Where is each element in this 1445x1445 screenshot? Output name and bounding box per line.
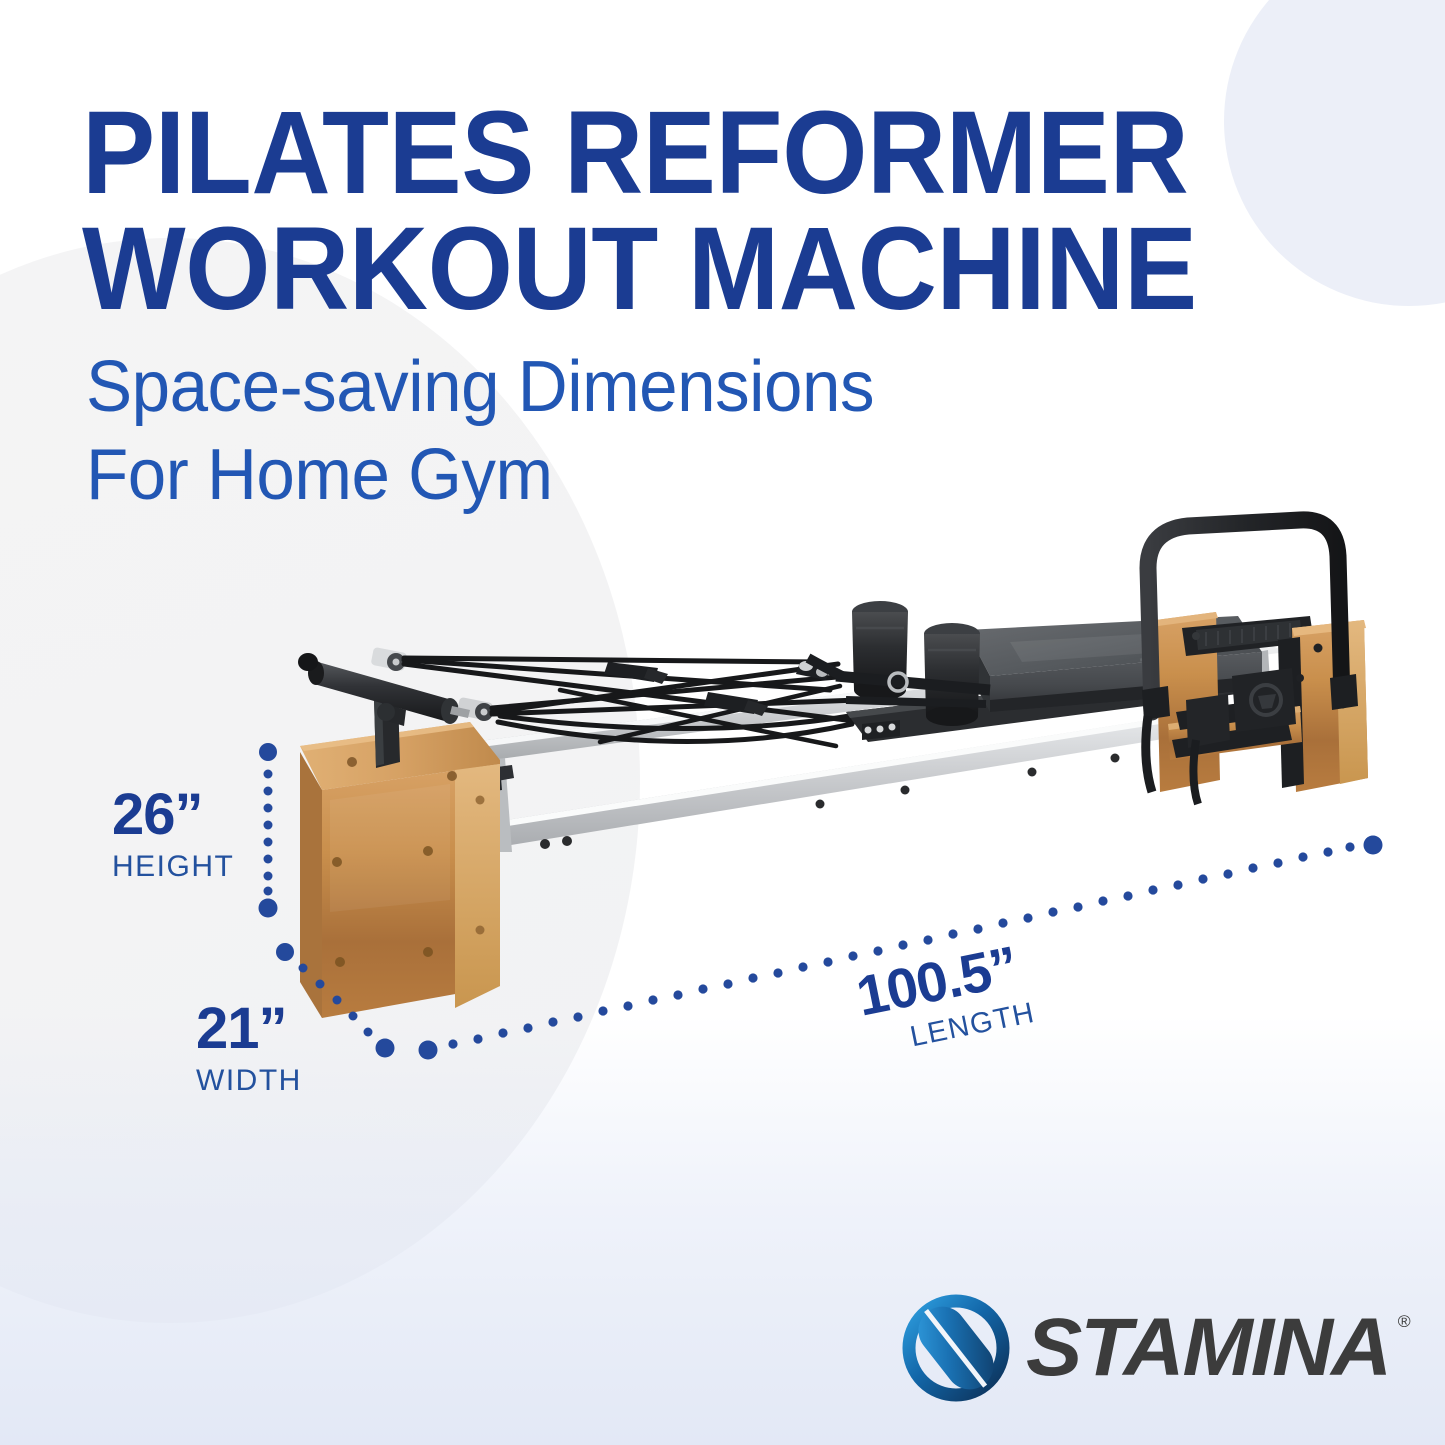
stamina-circle-slash-mark bbox=[900, 1292, 1012, 1404]
page-title: PILATES REFORMER WORKOUT MACHINE bbox=[82, 96, 1226, 327]
shoulder-rest-front bbox=[924, 623, 980, 726]
dimension-label-width: WIDTH bbox=[196, 1066, 302, 1096]
registered-trademark-icon: ® bbox=[1398, 1313, 1411, 1330]
dimension-value-width: 21” bbox=[196, 1000, 302, 1058]
dimension-callout-width: 21” WIDTH bbox=[196, 1000, 302, 1096]
brand-logo: STAMINA® bbox=[900, 1288, 1390, 1408]
dimension-value-height: 26” bbox=[112, 786, 234, 844]
wooden-foot-platform bbox=[300, 722, 500, 1018]
brand-wordmark: STAMINA® bbox=[1026, 1307, 1390, 1389]
page-subtitle: Space-saving Dimensions For Home Gym bbox=[86, 344, 1142, 520]
dimension-label-height: HEIGHT bbox=[112, 852, 234, 882]
infographic-canvas: PILATES REFORMER WORKOUT MACHINE Space-s… bbox=[0, 0, 1445, 1445]
dimension-callout-height: 26” HEIGHT bbox=[112, 786, 234, 882]
brand-wordmark-text: STAMINA bbox=[1026, 1302, 1390, 1393]
